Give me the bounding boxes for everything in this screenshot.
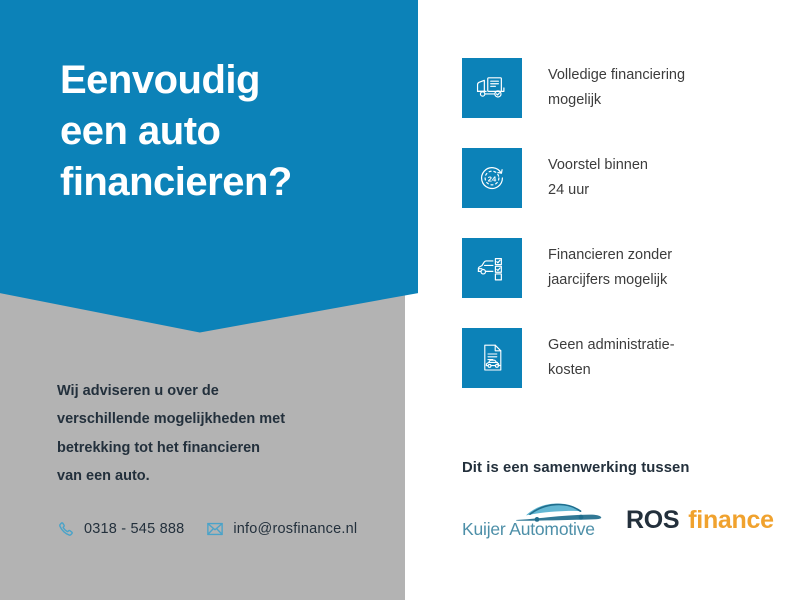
partnership-title: Dit is een samenwerking tussen [462, 460, 792, 476]
left-column: Eenvoudig een auto financieren? Wij advi… [0, 0, 420, 600]
intro-paragraph: Wij adviseren u over de verschillende mo… [57, 377, 377, 490]
clock-24-hour-icon: 24 [462, 148, 522, 208]
feature-text-no-annual-figures: Financieren zonder jaarcijfers mogelijk [548, 243, 672, 293]
envelope-icon [206, 520, 224, 538]
feature-item-no-annual-figures: Financieren zonder jaarcijfers mogelijk [462, 238, 782, 298]
ros-finance-logo[interactable]: ROS finance [626, 506, 774, 535]
ros-wordmark: ROS [626, 506, 679, 535]
svg-text:24: 24 [488, 174, 497, 183]
headline-line-1: Eenvoudig [60, 55, 410, 106]
phone-icon [57, 520, 75, 538]
feature-2-line-2: 24 uur [548, 178, 648, 203]
promo-poster: Eenvoudig een auto financieren? Wij advi… [0, 0, 800, 600]
partner-logo-row: Kuijer Automotive ROS finance [462, 500, 792, 540]
feature-item-full-financing: Volledige financiering mogelijk [462, 58, 782, 118]
truck-document-check-icon [462, 58, 522, 118]
page-title: Eenvoudig een auto financieren? [60, 55, 410, 209]
feature-list: Volledige financiering mogelijk 24 Voors… [462, 58, 782, 388]
feature-item-24h-proposal: 24 Voorstel binnen 24 uur [462, 148, 782, 208]
email-address: info@rosfinance.nl [233, 521, 357, 537]
contact-row: 0318 - 545 888 info@rosfinance.nl [57, 520, 357, 538]
intro-line-4: van een auto. [57, 462, 377, 490]
kuijer-automotive-logo[interactable]: Kuijer Automotive [462, 500, 604, 540]
car-checklist-icon [462, 238, 522, 298]
feature-4-line-2: kosten [548, 358, 675, 383]
feature-item-no-admin-costs: Geen administratie- kosten [462, 328, 782, 388]
phone-number: 0318 - 545 888 [84, 521, 184, 537]
feature-text-24h-proposal: Voorstel binnen 24 uur [548, 153, 648, 203]
intro-line-3: betrekking tot het financieren [57, 434, 377, 462]
feature-3-line-1: Financieren zonder [548, 243, 672, 268]
phone-contact[interactable]: 0318 - 545 888 [57, 520, 184, 538]
feature-4-line-1: Geen administratie- [548, 333, 675, 358]
partnership-block: Dit is een samenwerking tussen Kuijer Au… [462, 460, 792, 540]
headline-line-3: financieren? [60, 157, 410, 208]
feature-2-line-1: Voorstel binnen [548, 153, 648, 178]
document-car-icon [462, 328, 522, 388]
feature-1-line-1: Volledige financiering [548, 63, 685, 88]
intro-line-2: verschillende mogelijkheden met [57, 405, 377, 433]
feature-text-no-admin-costs: Geen administratie- kosten [548, 333, 675, 383]
right-column: Volledige financiering mogelijk 24 Voors… [420, 0, 800, 600]
finance-wordmark: finance [688, 506, 773, 535]
headline-line-2: een auto [60, 106, 410, 157]
feature-text-full-financing: Volledige financiering mogelijk [548, 63, 685, 113]
feature-1-line-2: mogelijk [548, 88, 685, 113]
intro-line-1: Wij adviseren u over de [57, 377, 377, 405]
kuijer-automotive-wordmark: Kuijer Automotive [462, 519, 595, 540]
feature-3-line-2: jaarcijfers mogelijk [548, 268, 672, 293]
email-contact[interactable]: info@rosfinance.nl [206, 520, 357, 538]
